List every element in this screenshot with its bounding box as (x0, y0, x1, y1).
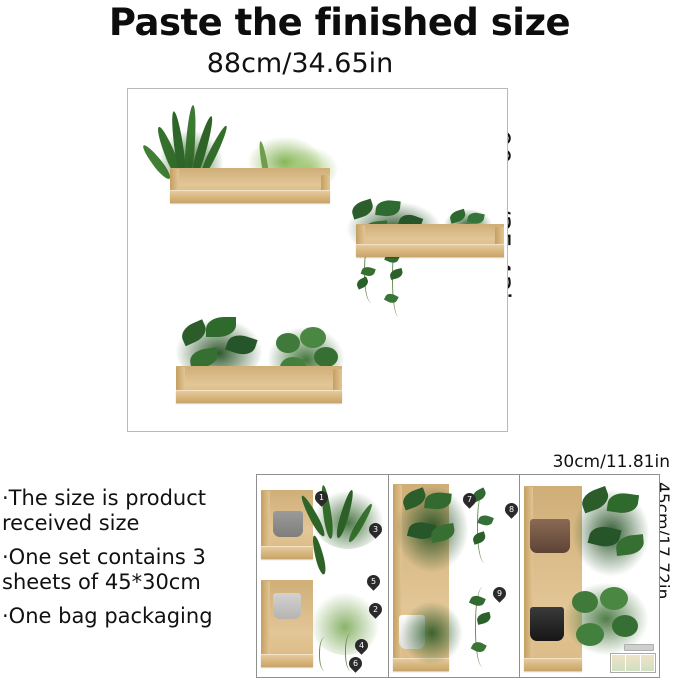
round-leaf (276, 333, 300, 353)
sheet3-preview-thumbnails (610, 653, 656, 673)
main-preview-frame (127, 88, 508, 432)
sheet3-pot-brown (530, 519, 570, 553)
overall-width-dimension: 88cm/34.65in (0, 48, 600, 80)
sticker-sheet-1: 1 3 5 2 4 6 (256, 474, 389, 678)
sheet3-pot-black (530, 607, 564, 641)
wall-shelf-top (170, 167, 330, 203)
sticker-sheets-panel: 1 3 5 2 4 6 (256, 474, 660, 678)
sheet1-pot-grey (273, 511, 303, 537)
sheet3-scale-bar (624, 644, 654, 651)
round-leaf (314, 347, 338, 367)
sheet3-round-leaf (612, 615, 638, 637)
preview-thumbnail (641, 655, 654, 671)
wall-shelf-middle (356, 223, 504, 257)
sheet3-round-leaf (600, 587, 628, 610)
sheet3-round-leaf (572, 591, 598, 613)
sheet1-trailing-vine (319, 637, 332, 671)
preview-thumbnail (612, 655, 625, 671)
round-leaf (300, 327, 326, 348)
sheet2-badge: 8 (502, 500, 520, 518)
sheet2-badge: 9 (490, 584, 508, 602)
note-item: ·One bag packaging (2, 604, 254, 629)
sheet1-badge: 5 (364, 572, 382, 590)
sheet1-pot-light-grey (273, 593, 301, 619)
product-notes-list: ·The size is product received size ·One … (2, 486, 254, 638)
sticker-sheet-3 (519, 474, 660, 678)
sheet-width-dimension: 30cm/11.81in (520, 452, 670, 472)
preview-thumbnail (626, 655, 639, 671)
note-item: ·The size is product received size (2, 486, 254, 536)
note-item: ·One set contains 3 sheets of 45*30cm (2, 545, 254, 595)
sheet2-pothos-mass (401, 601, 463, 665)
product-size-infographic: Paste the finished size 88cm/34.65in 90c… (0, 0, 679, 684)
wall-shelf-bottom (176, 365, 342, 403)
sheet3-shelf (524, 485, 582, 671)
page-title: Paste the finished size (0, 2, 679, 44)
sheet3-round-leaf (576, 623, 604, 646)
sticker-sheet-2: 7 8 9 (388, 474, 520, 678)
